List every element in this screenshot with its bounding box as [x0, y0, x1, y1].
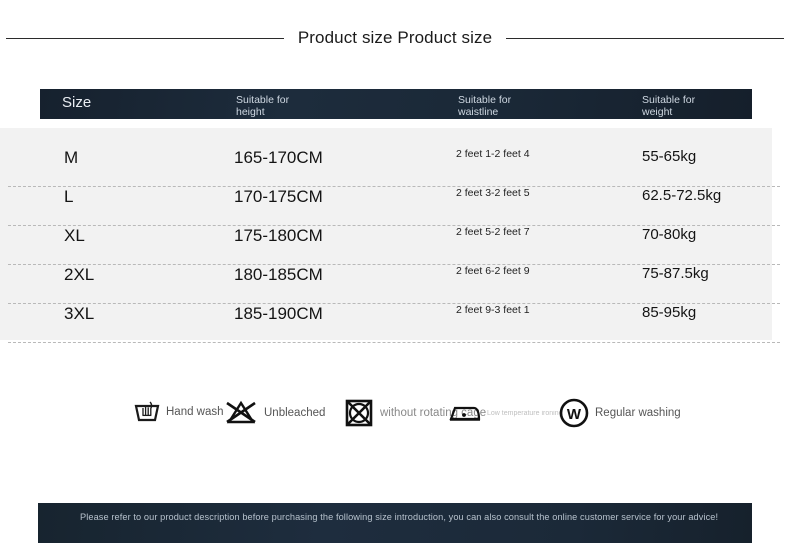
svg-text:W: W [567, 406, 582, 423]
cell-weight: 70-80kg [642, 226, 696, 243]
table-row: 3XL 185-190CM 2 feet 9-3 feet 1 85-95kg [0, 304, 790, 343]
care-item-regular-washing: W Regular washing [559, 398, 681, 428]
cell-weight: 75-87.5kg [642, 265, 709, 282]
care-item-hand-wash: Hand wash [134, 400, 224, 424]
table-row: XL 175-180CM 2 feet 5-2 feet 7 70-80kg [0, 226, 790, 265]
cell-height: 185-190CM [234, 304, 323, 324]
cell-height: 180-185CM [234, 265, 323, 285]
cell-waistline: 2 feet 6-2 feet 9 [456, 265, 530, 277]
care-item-unbleached: Unbleached [224, 400, 325, 426]
cell-weight: 55-65kg [642, 148, 696, 165]
cell-waistline: 2 feet 1-2 feet 4 [456, 148, 530, 160]
care-item-low-temp-iron: Low temperature ironing [447, 402, 563, 424]
table-row: M 165-170CM 2 feet 1-2 feet 4 55-65kg [0, 148, 790, 187]
title-rule-right [506, 38, 784, 39]
care-instructions: Hand wash Unbleached without rotatin [0, 396, 790, 440]
product-size-chart: Product size Product size Size Suitable … [0, 0, 790, 552]
care-label-regular-washing: Regular washing [595, 407, 681, 419]
care-label-unbleached: Unbleached [264, 407, 325, 419]
care-label-low-temp-iron: Low temperature ironing [487, 410, 563, 417]
cell-waistline: 2 feet 9-3 feet 1 [456, 304, 530, 316]
page-title-row: Product size Product size [0, 22, 790, 54]
cell-waistline: 2 feet 5-2 feet 7 [456, 226, 530, 238]
care-label-hand-wash: Hand wash [166, 406, 224, 418]
cell-weight: 85-95kg [642, 304, 696, 321]
column-header-height: Suitable for height [236, 94, 289, 118]
column-header-size: Size [62, 94, 91, 111]
cell-size: XL [64, 226, 85, 246]
do-not-bleach-icon [224, 400, 258, 426]
table-row: 2XL 180-185CM 2 feet 6-2 feet 9 75-87.5k… [0, 265, 790, 304]
cell-height: 175-180CM [234, 226, 323, 246]
column-header-waistline: Suitable for waistline [458, 94, 511, 118]
cell-waistline: 2 feet 3-2 feet 5 [456, 187, 530, 199]
cell-size: L [64, 187, 73, 207]
regular-washing-icon: W [559, 398, 589, 428]
no-tumble-dry-icon [344, 398, 374, 428]
hand-wash-icon [134, 400, 160, 424]
cell-size: 2XL [64, 265, 94, 285]
cell-size: 3XL [64, 304, 94, 324]
low-temp-iron-icon [447, 402, 481, 424]
cell-height: 170-175CM [234, 187, 323, 207]
row-divider [8, 342, 780, 343]
bottom-notice-text: Please refer to our product description … [80, 512, 790, 522]
table-row: L 170-175CM 2 feet 3-2 feet 5 62.5-72.5k… [0, 187, 790, 226]
bottom-notice-banner [38, 503, 752, 543]
size-table-header: Size Suitable for height Suitable for wa… [40, 89, 752, 119]
title-rule-left [6, 38, 284, 39]
cell-size: M [64, 148, 78, 168]
cell-height: 165-170CM [234, 148, 323, 168]
cell-weight: 62.5-72.5kg [642, 187, 721, 204]
page-title: Product size Product size [298, 28, 492, 48]
column-header-weight: Suitable for weight [642, 94, 695, 118]
size-table-rows: M 165-170CM 2 feet 1-2 feet 4 55-65kg L … [0, 148, 790, 343]
